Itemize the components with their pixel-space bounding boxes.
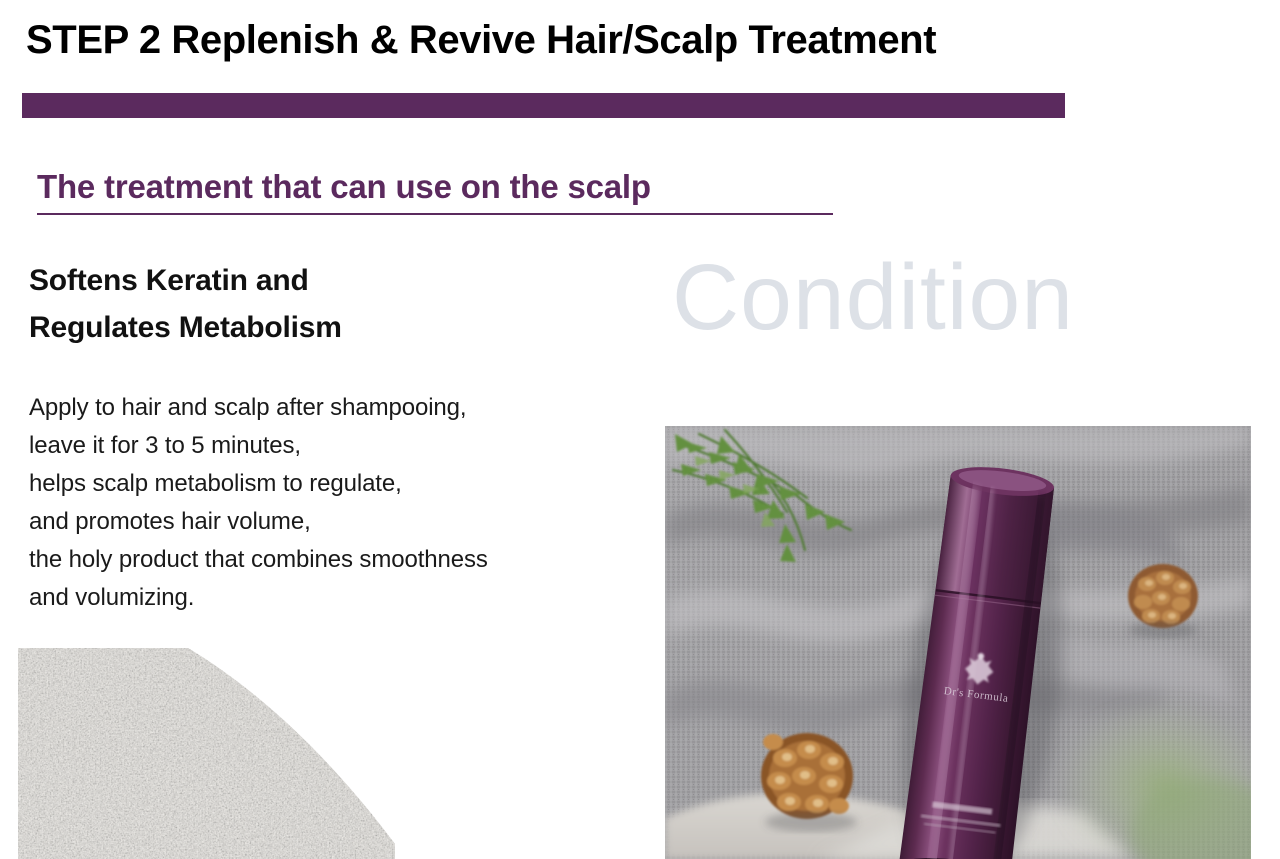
subtitle-underline bbox=[37, 213, 833, 215]
page-title: STEP 2 Replenish & Revive Hair/Scalp Tre… bbox=[26, 17, 1126, 63]
texture-graphic bbox=[18, 648, 395, 859]
slide-canvas: STEP 2 Replenish & Revive Hair/Scalp Tre… bbox=[0, 0, 1280, 859]
body-line: helps scalp metabolism to regulate, bbox=[29, 465, 639, 503]
lead-heading: Softens Keratin and Regulates Metabolism bbox=[29, 258, 639, 351]
lead-heading-line: Regulates Metabolism bbox=[29, 305, 639, 352]
granular-powder-texture-image bbox=[18, 648, 395, 859]
body-line: leave it for 3 to 5 minutes, bbox=[29, 427, 639, 465]
condition-watermark-text: Condition bbox=[672, 251, 1074, 344]
body-paragraph: Apply to hair and scalp after shampooing… bbox=[29, 389, 639, 616]
subtitle-text: The treatment that can use on the scalp bbox=[37, 166, 837, 207]
subtitle-block: The treatment that can use on the scalp bbox=[37, 166, 837, 215]
body-line: and promotes hair volume, bbox=[29, 503, 639, 541]
title-accent-bar bbox=[22, 93, 1065, 118]
product-photo-graphic: Dr's Formula bbox=[665, 426, 1251, 859]
body-line: the holy product that combines smoothnes… bbox=[29, 541, 639, 579]
lead-heading-line: Softens Keratin and bbox=[29, 258, 639, 305]
product-bottle-on-fabric-photo: Dr's Formula bbox=[665, 426, 1251, 859]
left-content-column: Softens Keratin and Regulates Metabolism… bbox=[29, 258, 639, 616]
body-line: and volumizing. bbox=[29, 579, 639, 617]
body-line: Apply to hair and scalp after shampooing… bbox=[29, 389, 639, 427]
